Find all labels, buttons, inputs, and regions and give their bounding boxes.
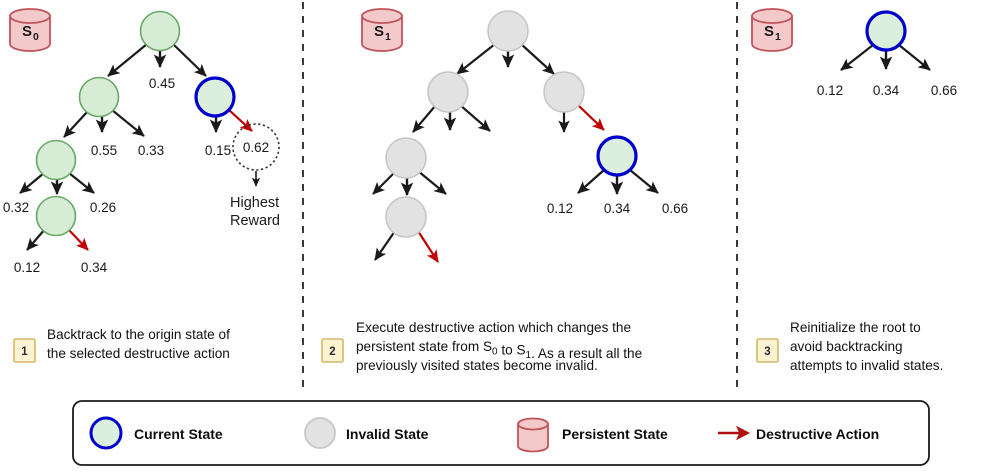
diagram-svg: 0.45 0.55 0.33 0.15 0.32 0.26 0.12 0.34 …: [0, 0, 997, 473]
leaf-value: 0.32: [3, 200, 29, 215]
step-caption-line-1: Execute destructive action which changes…: [356, 320, 631, 335]
persistent-state-cylinder-icon: [518, 419, 548, 452]
tree-node: [37, 141, 76, 180]
legend-label-invalid-state: Invalid State: [346, 426, 429, 442]
step-caption-2: 2 Execute destructive action which chang…: [322, 320, 642, 373]
highest-reward-label-line1: Highest: [230, 195, 279, 211]
highest-reward-label-line2: Reward: [230, 213, 280, 229]
persistent-state-subscript: 0: [33, 31, 39, 43]
persistent-state-badge-panel-3: S 1: [752, 9, 792, 51]
invalid-state-circle-icon: [305, 418, 335, 448]
persistent-state-badge-panel-1: S 0: [10, 9, 50, 51]
tree-edge: [375, 231, 395, 260]
persistent-state-badge-panel-2: S 1: [362, 9, 402, 51]
tree-edge: [418, 171, 446, 194]
tree-node-invalid: [386, 197, 426, 237]
tree-node: [37, 197, 76, 236]
step-caption-line: Reinitialize the root to: [790, 320, 921, 335]
tree-edge: [373, 171, 396, 194]
tree-edge: [69, 173, 94, 193]
step-number: 3: [764, 346, 770, 358]
tree-node: [80, 78, 119, 117]
tree-edge: [112, 110, 144, 136]
step-caption-line: Backtrack to the origin state of: [47, 327, 230, 342]
legend-label-persistent-state: Persistent State: [562, 426, 668, 442]
leaf-value: 0.26: [90, 200, 116, 215]
leaf-value: 0.66: [662, 201, 688, 216]
step-caption-3: 3 Reinitialize the root to avoid backtra…: [757, 320, 943, 373]
tree-edge: [27, 229, 45, 250]
leaf-value: 0.12: [14, 260, 40, 275]
legend-label-destructive-action: Destructive Action: [756, 426, 879, 442]
leaf-value: 0.15: [205, 143, 231, 158]
legend-label-current-state: Current State: [134, 426, 223, 442]
tree-edge: [20, 173, 44, 193]
diagram-canvas: 0.45 0.55 0.33 0.15 0.32 0.26 0.12 0.34 …: [0, 0, 997, 473]
tree-node-invalid: [544, 72, 584, 112]
tree-edge: [460, 105, 490, 131]
step-caption-line: avoid backtracking: [790, 339, 903, 354]
persistent-state-label: S: [22, 23, 32, 40]
leaf-value: 0.12: [817, 83, 843, 98]
leaf-value: 0.34: [81, 260, 108, 275]
leaf-value: 0.34: [604, 201, 631, 216]
panel-1-tree: 0.45 0.55 0.33 0.15 0.32 0.26 0.12 0.34 …: [3, 12, 280, 276]
step-number: 1: [21, 346, 28, 358]
leaf-value: 0.33: [138, 143, 164, 158]
legend: Current State Invalid State Persistent S…: [73, 401, 929, 465]
leaf-value: 0.45: [149, 76, 175, 91]
tree-node-current: [598, 137, 636, 175]
tree-node-invalid-root: [488, 11, 528, 51]
tree-edge: [899, 45, 930, 70]
leaf-value: 0.34: [873, 83, 900, 98]
step-caption-1: 1 Backtrack to the origin state of the s…: [14, 327, 230, 362]
persistent-state-subscript: 1: [775, 31, 781, 43]
step-caption-line-3: previously visited states become invalid…: [356, 358, 598, 373]
tree-node-current-root: [867, 12, 905, 50]
tree-edge: [630, 170, 658, 193]
panel-3-tree: 0.12 0.34 0.66: [817, 12, 957, 98]
destructive-action-edge: [418, 231, 438, 262]
tree-edge: [841, 45, 873, 70]
tree-node-root: [141, 12, 180, 51]
persistent-state-label: S: [764, 23, 774, 40]
destructive-action-edge: [68, 229, 88, 250]
tree-edge: [108, 44, 147, 76]
destructive-action-edge: [578, 105, 604, 130]
tree-node-invalid: [428, 72, 468, 112]
tree-edge: [578, 170, 604, 193]
persistent-state-label: S: [374, 23, 384, 40]
tree-edge: [413, 105, 436, 132]
tree-node-invalid: [386, 138, 426, 178]
highest-reward-value: 0.62: [243, 140, 269, 155]
leaf-value: 0.55: [91, 143, 117, 158]
leaf-value: 0.66: [931, 83, 957, 98]
tree-node-current: [196, 78, 234, 116]
step-number: 2: [329, 346, 335, 358]
tree-edge: [457, 44, 495, 74]
panel-2-tree: 0.12 0.34 0.66: [373, 11, 688, 262]
tree-edge: [64, 111, 88, 137]
step-caption-line: the selected destructive action: [47, 346, 230, 361]
destructive-action-edge: [229, 110, 252, 131]
leaf-value: 0.12: [547, 201, 573, 216]
tree-edge: [521, 44, 554, 74]
persistent-state-subscript: 1: [385, 31, 391, 43]
current-state-circle-icon: [91, 418, 121, 448]
tree-edge: [173, 44, 206, 76]
step-caption-line: attempts to invalid states.: [790, 358, 943, 373]
